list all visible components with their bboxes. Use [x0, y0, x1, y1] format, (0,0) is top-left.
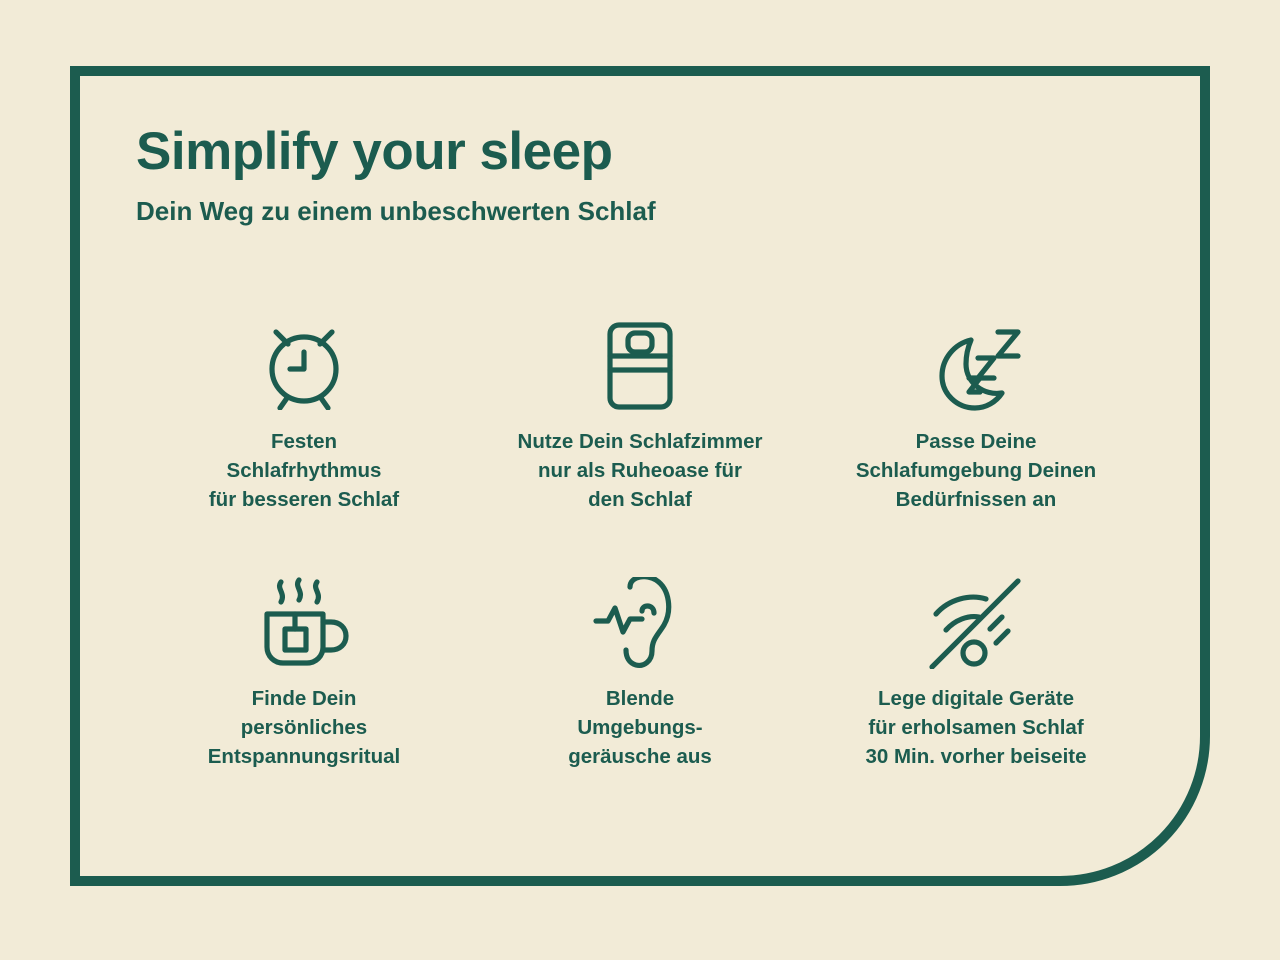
alarm-clock-icon — [258, 320, 350, 412]
poster-header: Simplify your sleep Dein Weg zu einem un… — [136, 124, 1036, 227]
bed-icon — [601, 320, 679, 412]
tip-label: Festen Schlafrhythmus für besseren Schla… — [209, 427, 399, 514]
tip-card-sleep-rhythm: Festen Schlafrhythmus für besseren Schla… — [136, 320, 472, 577]
moon-zzz-icon — [926, 320, 1026, 412]
tip-label: Nutze Dein Schlafzimmer nur als Ruheoase… — [518, 427, 763, 514]
tip-card-sleep-environment: Passe Deine Schlafumgebung Deinen Bedürf… — [808, 320, 1144, 577]
tips-grid: Festen Schlafrhythmus für besseren Schla… — [136, 320, 1144, 834]
tip-card-relaxation-ritual: Finde Dein persönliches Entspannungsritu… — [136, 577, 472, 834]
page-title: Simplify your sleep — [136, 124, 1036, 180]
tip-label: Finde Dein persönliches Entspannungsritu… — [208, 684, 400, 771]
sleep-tips-poster: Simplify your sleep Dein Weg zu einem un… — [0, 0, 1280, 960]
tip-card-block-ambient-noise: Blende Umgebungs- geräusche aus — [472, 577, 808, 834]
wifi-off-icon — [926, 577, 1026, 669]
tip-card-bedroom-rest-oasis: Nutze Dein Schlafzimmer nur als Ruheoase… — [472, 320, 808, 577]
tea-cup-icon — [257, 577, 351, 669]
page-subtitle: Dein Weg zu einem unbeschwerten Schlaf — [136, 196, 1036, 227]
tip-label: Blende Umgebungs- geräusche aus — [568, 684, 712, 771]
tip-label: Lege digitale Geräte für erholsamen Schl… — [865, 684, 1086, 771]
tip-card-digital-devices-away: Lege digitale Geräte für erholsamen Schl… — [808, 577, 1144, 834]
tip-label: Passe Deine Schlafumgebung Deinen Bedürf… — [856, 427, 1096, 514]
ear-sound-icon — [590, 577, 690, 669]
